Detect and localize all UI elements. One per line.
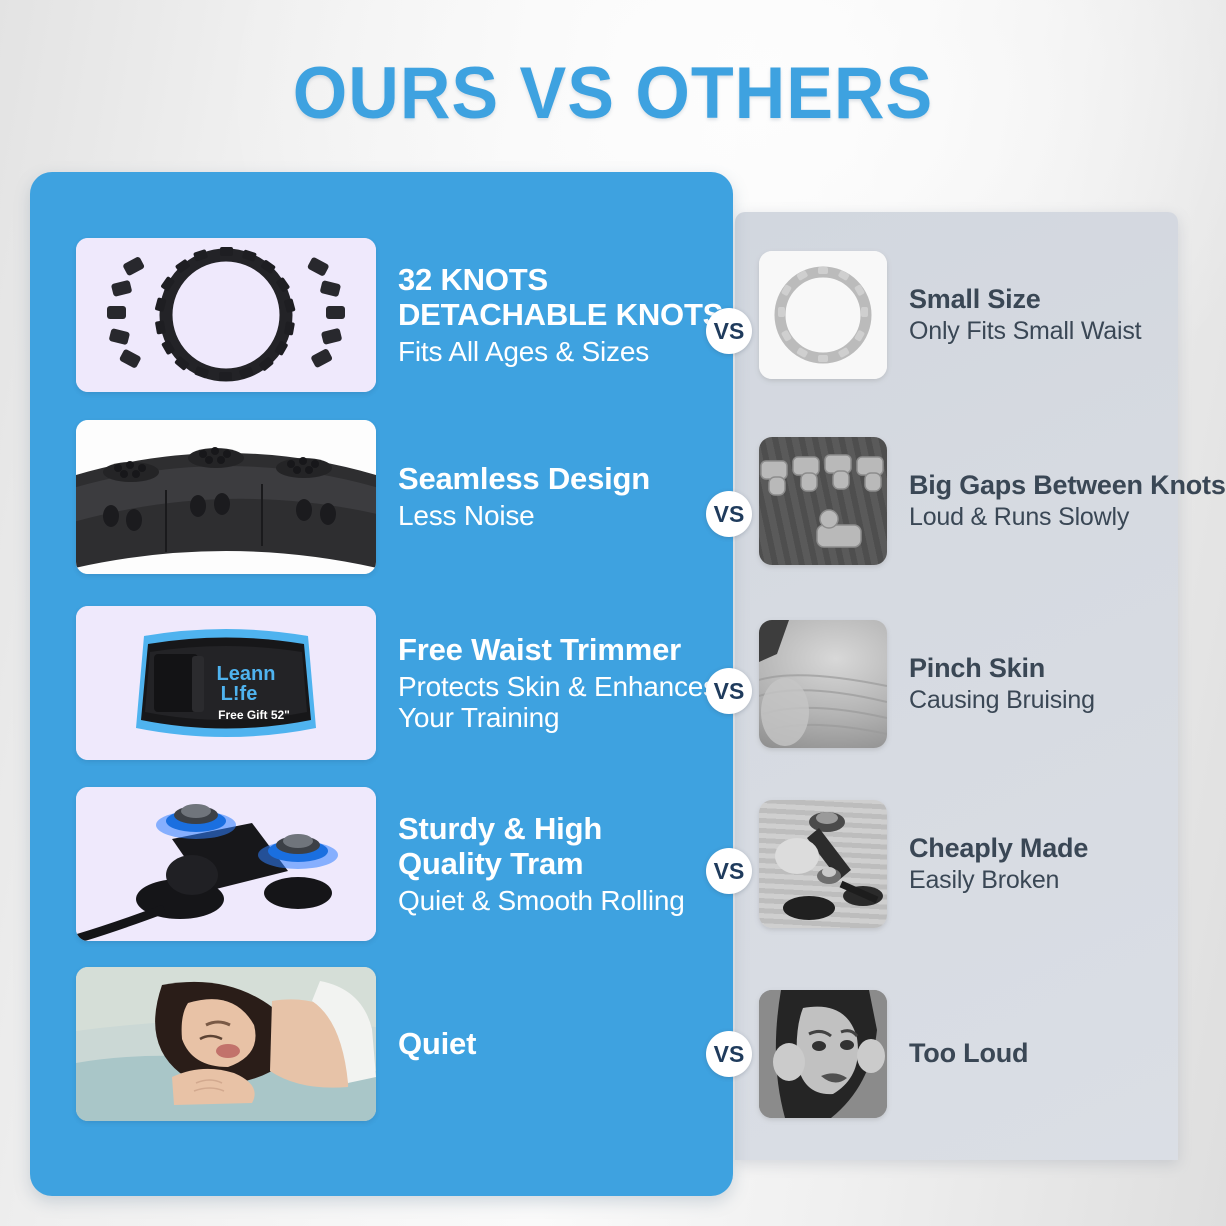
others-title: Cheaply Made bbox=[909, 833, 1088, 864]
page-title: OURS VS OTHERS bbox=[25, 52, 1202, 135]
comparison-row-4-others: Cheaply Made Easily Broken bbox=[759, 800, 1088, 928]
pinched-skin-image bbox=[759, 620, 887, 748]
others-title: Small Size bbox=[909, 284, 1141, 315]
waist-trimmer-illustration: Leann L!fe Free Gift 52" bbox=[76, 606, 376, 760]
small-gray-hoop-image bbox=[759, 251, 887, 379]
comparison-row-4-ours: Sturdy & High Quality Tram Quiet & Smoot… bbox=[76, 787, 685, 941]
comparison-row-3-others: Pinch Skin Causing Bruising bbox=[759, 620, 1095, 748]
detachable-knots-hoop-image bbox=[76, 238, 376, 392]
comparison-row-4-others-text: Cheaply Made Easily Broken bbox=[909, 833, 1088, 895]
comparison-row-5-others: Too Loud bbox=[759, 990, 1028, 1118]
others-title: Pinch Skin bbox=[909, 653, 1095, 684]
others-subtitle: Causing Bruising bbox=[909, 686, 1095, 715]
vs-badge-5: VS bbox=[706, 1031, 752, 1077]
ours-title-line2: Quality Tram bbox=[398, 847, 685, 882]
comparison-row-1-ours-text: 32 KNOTS DETACHABLE KNOTS Fits All Ages … bbox=[398, 263, 723, 367]
ours-title-line2: DETACHABLE KNOTS bbox=[398, 298, 723, 333]
broken-cheap-tram-image bbox=[759, 800, 887, 928]
ours-title-line1: Seamless Design bbox=[398, 462, 650, 497]
product-brand-line2: L!fe bbox=[221, 683, 258, 705]
comparison-row-2-ours-text: Seamless Design Less Noise bbox=[398, 462, 650, 531]
comparison-row-2-others: Big Gaps Between Knots Loud & Runs Slowl… bbox=[759, 437, 1226, 565]
vs-badge-2: VS bbox=[706, 491, 752, 537]
waist-trimmer-belt-image: Leann L!fe Free Gift 52" bbox=[76, 606, 376, 760]
small-hoop-illustration bbox=[759, 251, 887, 379]
hoop-closeup-illustration bbox=[76, 420, 376, 574]
others-subtitle: Loud & Runs Slowly bbox=[909, 503, 1226, 532]
gapped-knots-illustration bbox=[759, 437, 887, 565]
ours-subtitle: Fits All Ages & Sizes bbox=[398, 336, 723, 367]
comparison-row-3-ours: Leann L!fe Free Gift 52" Free Waist Trim… bbox=[76, 606, 718, 760]
skin-fold-illustration bbox=[759, 620, 887, 748]
comparison-row-3-ours-text: Free Waist Trimmer Protects Skin & Enhan… bbox=[398, 633, 718, 733]
sleeping-woman-image bbox=[76, 967, 376, 1121]
vs-badge-1: VS bbox=[706, 308, 752, 354]
broken-tram-illustration bbox=[759, 800, 887, 928]
comparison-row-5-others-text: Too Loud bbox=[909, 1038, 1028, 1069]
ours-title-line1: 32 KNOTS bbox=[398, 263, 723, 298]
woman-covering-ears-image bbox=[759, 990, 887, 1118]
comparison-row-5-ours-text: Quiet bbox=[398, 1027, 476, 1062]
ours-title-line1: Sturdy & High bbox=[398, 812, 685, 847]
vs-badge-3: VS bbox=[706, 668, 752, 714]
ours-subtitle: Quiet & Smooth Rolling bbox=[398, 885, 685, 916]
product-brand-line1: Leann bbox=[217, 663, 276, 685]
comparison-row-1-others: Small Size Only Fits Small Waist bbox=[759, 251, 1141, 379]
comparison-row-4-ours-text: Sturdy & High Quality Tram Quiet & Smoot… bbox=[398, 812, 685, 916]
gapped-knots-image bbox=[759, 437, 887, 565]
comparison-row-2-others-text: Big Gaps Between Knots Loud & Runs Slowl… bbox=[909, 470, 1226, 532]
ours-title-line1: Free Waist Trimmer bbox=[398, 633, 718, 668]
ours-subtitle: Protects Skin & Enhances Your Training bbox=[398, 671, 718, 734]
others-subtitle: Only Fits Small Waist bbox=[909, 317, 1141, 346]
comparison-row-5-ours: Quiet bbox=[76, 967, 476, 1121]
sturdy-tram-roller-image bbox=[76, 787, 376, 941]
vs-badge-4: VS bbox=[706, 848, 752, 894]
comparison-row-1-others-text: Small Size Only Fits Small Waist bbox=[909, 284, 1141, 346]
others-subtitle: Easily Broken bbox=[909, 866, 1088, 895]
comparison-row-1-ours: 32 KNOTS DETACHABLE KNOTS Fits All Ages … bbox=[76, 238, 723, 392]
hoop-ring-illustration bbox=[76, 238, 376, 392]
tram-roller-illustration bbox=[76, 787, 376, 941]
page-title-wrap: OURS VS OTHERS bbox=[0, 52, 1226, 135]
product-badge: Free Gift 52" bbox=[218, 708, 290, 722]
others-title: Big Gaps Between Knots bbox=[909, 470, 1226, 501]
comparison-row-3-others-text: Pinch Skin Causing Bruising bbox=[909, 653, 1095, 715]
ours-title-line1: Quiet bbox=[398, 1027, 476, 1062]
ours-subtitle: Less Noise bbox=[398, 500, 650, 531]
seamless-hoop-closeup-image bbox=[76, 420, 376, 574]
comparison-row-2-ours: Seamless Design Less Noise bbox=[76, 420, 650, 574]
others-title: Too Loud bbox=[909, 1038, 1028, 1069]
covering-ears-illustration bbox=[759, 990, 887, 1118]
sleeping-woman-illustration bbox=[76, 967, 376, 1121]
